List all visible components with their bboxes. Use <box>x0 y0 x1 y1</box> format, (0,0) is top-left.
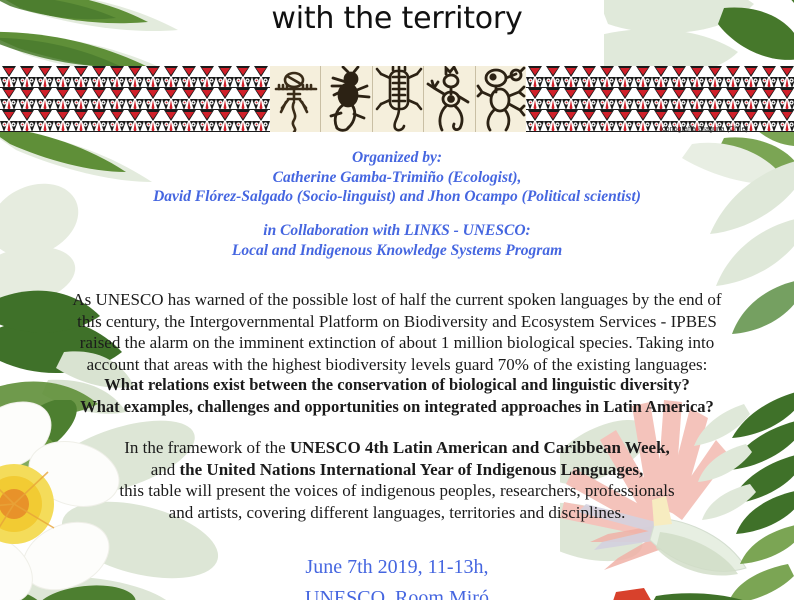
intro-line-3: raised the alarm on the imminent extinct… <box>0 332 794 354</box>
framework-line-1-plain: In the framework of the <box>124 438 290 457</box>
framework-line-4: and artists, covering different language… <box>0 502 794 524</box>
collaboration-line-2: Local and Indigenous Knowledge Systems P… <box>0 241 794 261</box>
framework-line-2: and the United Nations International Yea… <box>0 459 794 481</box>
organizers-block: Organized by: Catherine Gamba-Trimiño (E… <box>0 148 794 207</box>
collaboration-line-1: in Collaboration with LINKS - UNESCO: <box>0 221 794 241</box>
intro-paragraph: As UNESCO has warned of the possible los… <box>0 289 794 375</box>
question-1: What relations exist between the conserv… <box>0 374 794 396</box>
framework-line-3: this table will present the voices of in… <box>0 480 794 502</box>
organizer-name-line-2: David Flórez-Salgado (Socio-linguist) an… <box>0 187 794 207</box>
framework-line-2-plain: and <box>151 460 180 479</box>
questions-block: What relations exist between the conserv… <box>0 374 794 417</box>
banner-caption: Iconografía Diaguita (Chile) <box>660 126 748 133</box>
framework-paragraph: In the framework of the UNESCO 4th Latin… <box>0 437 794 523</box>
framework-line-2-bold: the United Nations International Year of… <box>180 460 644 479</box>
question-2: What examples, challenges and opportunit… <box>0 396 794 418</box>
event-venue: UNESCO, Room Miró <box>0 583 794 600</box>
event-date: June 7th 2019, 11-13h, <box>0 552 794 583</box>
organizer-name-line-1: Catherine Gamba-Trimiño (Ecologist), <box>0 168 794 188</box>
poster-canvas: Iconografía Diaguita (Chile) with the te… <box>0 0 794 600</box>
page-title: with the territory <box>0 0 794 42</box>
intro-line-1: As UNESCO has warned of the possible los… <box>0 289 794 311</box>
collaboration-block: in Collaboration with LINKS - UNESCO: Lo… <box>0 221 794 260</box>
poster-content: with the territory Organized by: Catheri… <box>0 0 794 600</box>
framework-line-1: In the framework of the UNESCO 4th Latin… <box>0 437 794 459</box>
intro-line-2: this century, the Intergovernmental Plat… <box>0 311 794 333</box>
event-details-block: June 7th 2019, 11-13h, UNESCO, Room Miró <box>0 552 794 600</box>
organized-by-label: Organized by: <box>0 148 794 168</box>
intro-line-4: account that areas with the highest biod… <box>0 354 794 376</box>
framework-line-1-bold: UNESCO 4th Latin American and Caribbean … <box>290 438 670 457</box>
